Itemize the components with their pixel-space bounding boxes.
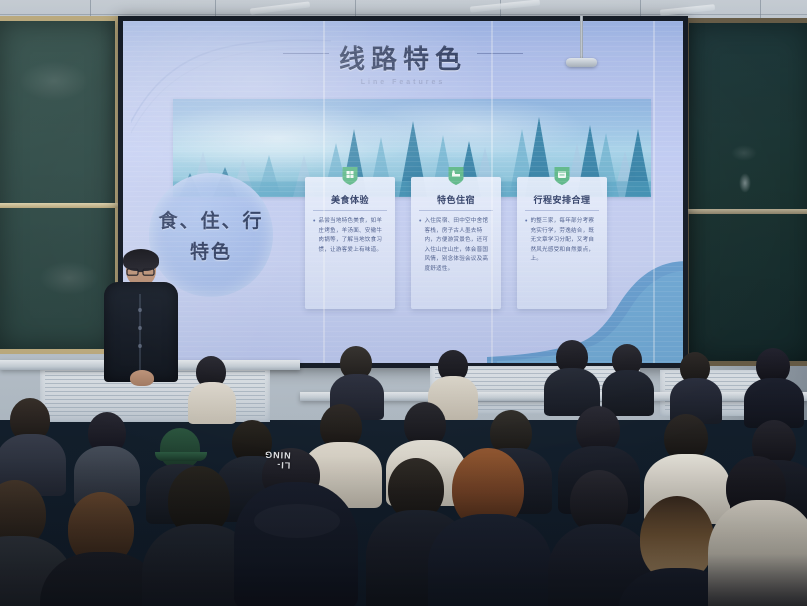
card-text: 入住民宿、田中空中舍馆客栈，房子古人墨去特内，方便游赏景色，还可入住山庄山庄，体… — [424, 217, 493, 274]
window-shield-icon — [342, 166, 359, 186]
card-bullet: • — [313, 217, 315, 255]
badge-line-1: 食、住、行 — [158, 206, 263, 233]
ceiling-sensor-icon — [566, 58, 597, 67]
chalkboard-left — [0, 16, 120, 354]
ceiling-sensor-rod — [580, 16, 583, 60]
presentation-screen-frame: 线路特色 Line Features — [118, 16, 688, 368]
classroom-photo: 线路特色 Line Features — [0, 0, 807, 606]
badge-line-2: 特色 — [190, 237, 232, 264]
card-bullet: • — [419, 217, 421, 274]
lining-brand-text: LI-NING — [264, 450, 291, 471]
audience: LI-NING — [0, 340, 807, 606]
calendar-shield-icon — [554, 166, 571, 186]
chalkboard-right — [684, 18, 807, 366]
feature-card[interactable]: 美食体验 • 品尝当地特色美食，如羊庄烤鱼，羊汤面、安徽牛肉锅等，了解当地饮食习… — [305, 177, 395, 309]
slide-title-block: 线路特色 Line Features — [123, 39, 683, 86]
bed-shield-icon — [448, 166, 465, 186]
cap-brim-icon — [155, 452, 207, 461]
card-title: 行程安排合理 — [525, 193, 599, 211]
card-text: 品尝当地特色美食，如羊庄烤鱼，羊汤面、安徽牛肉锅等，了解当地饮食习惯，让游客爱上… — [318, 217, 387, 255]
glasses-icon — [126, 268, 156, 276]
presentation-slide[interactable]: 线路特色 Line Features — [123, 21, 683, 363]
card-title: 特色住宿 — [419, 193, 493, 211]
slide-subtitle: Line Features — [123, 79, 683, 86]
slide-title: 线路特色 — [339, 39, 467, 76]
